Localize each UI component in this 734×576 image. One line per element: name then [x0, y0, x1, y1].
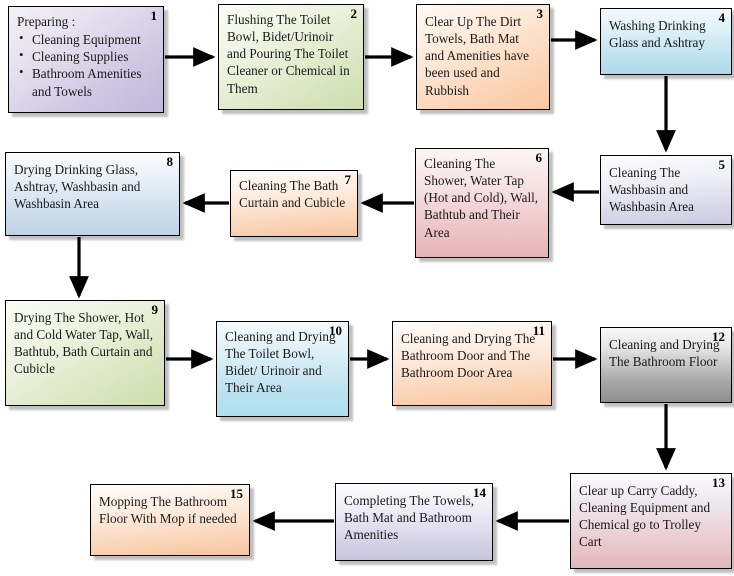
process-node-11[interactable]: 11 Cleaning and Drying The Bathroom Door… [392, 321, 552, 406]
process-node-14[interactable]: 14 Completing The Towels, Bath Mat and B… [335, 483, 493, 561]
node-number-1: 1 [151, 9, 158, 23]
node-number-12: 12 [712, 330, 725, 344]
node-number-4: 4 [719, 11, 726, 25]
node-number-2: 2 [351, 7, 358, 21]
process-node-12[interactable]: 12 Cleaning and Drying The Bathroom Floo… [600, 327, 732, 403]
node-number-10: 10 [329, 324, 342, 338]
node-number-3: 3 [537, 7, 544, 21]
list-item: Cleaning Equipment [32, 31, 155, 48]
node-number-5: 5 [719, 158, 726, 172]
node-4-text: Washing Drinking Glass and Ashtray [601, 9, 731, 55]
node-9-text: Drying The Shower, Hot and Cold Water Ta… [6, 301, 164, 382]
node-number-15: 15 [230, 487, 243, 501]
process-node-13[interactable]: 13 Clear up Carry Caddy, Cleaning Equipm… [570, 473, 732, 569]
list-item: Cleaning Supplies [32, 48, 155, 65]
node-1-heading: Preparing : [17, 13, 155, 30]
process-node-10[interactable]: 10 Cleaning and Drying The Toilet Bowl, … [216, 321, 349, 417]
process-node-5[interactable]: 5 Cleaning The Washbasin and Washbasin A… [600, 155, 732, 225]
process-node-3[interactable]: 3 Clear Up The Dirt Towels, Bath Mat and… [416, 4, 550, 110]
node-number-6: 6 [536, 151, 543, 165]
node-11-text: Cleaning and Drying The Bathroom Door an… [393, 322, 551, 385]
node-number-11: 11 [533, 324, 545, 338]
process-node-4[interactable]: 4 Washing Drinking Glass and Ashtray [600, 8, 732, 75]
node-number-13: 13 [712, 476, 725, 490]
flowchart-canvas: 1 Preparing : Cleaning Equipment Cleanin… [0, 0, 734, 576]
process-node-1[interactable]: 1 Preparing : Cleaning Equipment Cleanin… [8, 6, 164, 113]
process-node-6[interactable]: 6 Cleaning The Shower, Water Tap (Hot an… [415, 148, 549, 258]
process-node-7[interactable]: 7 Cleaning The Bath Curtain and Cubicle [230, 170, 358, 237]
process-node-8[interactable]: 8 Drying Drinking Glass, Ashtray, Washba… [5, 152, 180, 236]
node-3-text: Clear Up The Dirt Towels, Bath Mat and A… [417, 5, 549, 103]
node-5-text: Cleaning The Washbasin and Washbasin Are… [601, 156, 731, 219]
node-number-14: 14 [473, 486, 486, 500]
node-15-text: Mopping The Bathroom Floor With Mop if n… [91, 485, 249, 531]
process-node-2[interactable]: 2 Flushing The Toilet Bowl, Bidet/Urinoi… [218, 4, 364, 110]
process-node-9[interactable]: 9 Drying The Shower, Hot and Cold Water … [5, 300, 165, 406]
node-6-text: Cleaning The Shower, Water Tap (Hot and … [416, 149, 548, 245]
node-13-text: Clear up Carry Caddy, Cleaning Equipment… [571, 474, 731, 555]
list-item: Bathroom Amenities and Towels [32, 65, 155, 99]
node-8-text: Drying Drinking Glass, Ashtray, Washbasi… [6, 153, 179, 216]
node-7-text: Cleaning The Bath Curtain and Cubicle [231, 171, 357, 215]
node-14-text: Completing The Towels, Bath Mat and Bath… [336, 484, 492, 547]
node-number-7: 7 [345, 173, 352, 187]
node-number-8: 8 [167, 155, 174, 169]
node-1-body: Preparing : Cleaning Equipment Cleaning … [9, 7, 163, 104]
process-node-15[interactable]: 15 Mopping The Bathroom Floor With Mop i… [90, 484, 250, 556]
node-2-text: Flushing The Toilet Bowl, Bidet/Urinoir … [219, 5, 363, 101]
node-number-9: 9 [152, 303, 159, 317]
node-1-bullet-list: Cleaning Equipment Cleaning Supplies Bat… [17, 31, 155, 100]
